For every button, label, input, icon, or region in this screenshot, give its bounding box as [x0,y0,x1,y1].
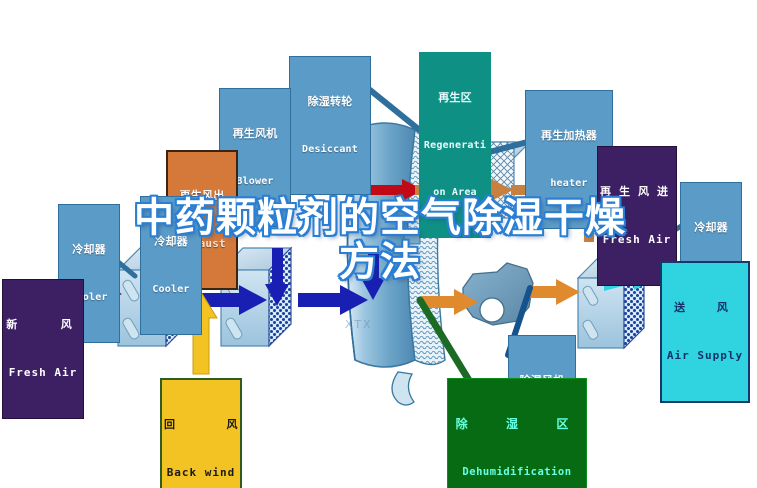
label-cooler-2-cn: 冷却器 [143,236,199,248]
label-cooler-supply-cn: 冷却器 [683,222,739,234]
label-regen-blower-cn: 再生风机 [222,128,288,140]
dehumidification-system-diagram: XTX 除湿转轮 Desiccant 再生风机 Blower 再生区 Regen… [0,0,757,488]
watermark: XTX [345,318,373,331]
label-back-wind: 回 风 Back wind [160,378,242,488]
label-regen-area-en-1: Regenerati [422,140,488,151]
label-fresh-air-process: 新 风 Fresh Air [2,279,84,419]
label-fresh-air-process-cn: 新 风 [5,319,81,331]
label-back-wind-cn: 回 风 [164,419,238,431]
label-heater-cn: 再生加热器 [528,130,610,142]
label-dehum-district-en-1: Dehumidification [450,467,584,479]
label-air-supply-cn: 送 风 [664,302,746,314]
label-desiccant-wheel: 除湿转轮 Desiccant [289,56,371,195]
label-dehum-district-cn: 除 湿 区 [450,418,584,431]
label-fresh-air-regen-cn: 再生风进 [600,186,674,198]
label-desiccant-en: Desiccant [292,144,368,155]
label-dehumidification-district: 除 湿 区 Dehumidification District [447,378,587,488]
label-cooler-process-2: 冷却器 Cooler [140,196,202,335]
label-regen-area-cn: 再生区 [422,92,488,104]
label-cooler-1-cn: 冷却器 [61,244,117,256]
label-regen-area-en-2: on Area [422,187,488,198]
label-cooler-2-en: Cooler [143,284,199,295]
label-back-wind-en: Back wind [164,467,238,479]
label-fresh-air-process-en: Fresh Air [5,367,81,379]
label-air-supply: 送 风 Air Supply [660,261,750,403]
label-regeneration-area: 再生区 Regenerati on Area [419,52,491,238]
arrow-dehum-orange-2 [528,279,580,305]
label-fresh-air-regen-en: Fresh Air [600,234,674,246]
label-desiccant-cn: 除湿转轮 [292,96,368,108]
label-air-supply-en: Air Supply [664,350,746,362]
